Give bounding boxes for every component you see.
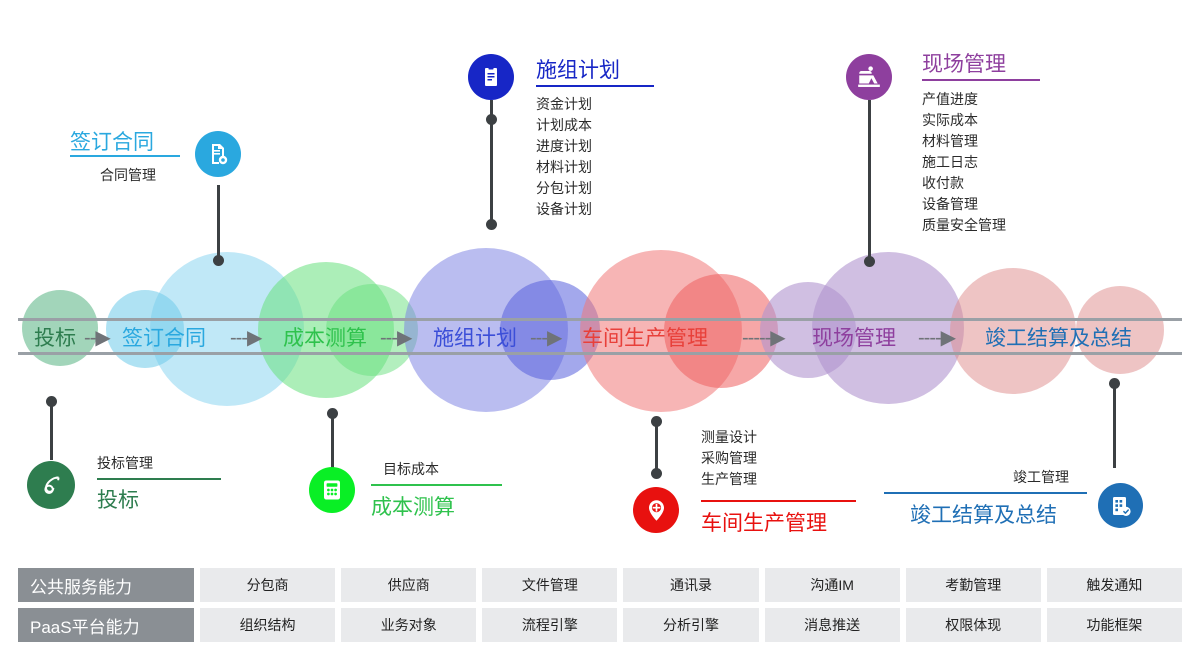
callout-item: 收付款 [922, 173, 1006, 194]
connector-dot-shizu [486, 219, 497, 230]
capability-cells: 组织结构 业务对象 流程引擎 分析引擎 消息推送 权限体现 功能框架 [200, 608, 1182, 642]
callout-item: 质量安全管理 [922, 215, 1006, 236]
callout-item: 材料计划 [536, 157, 592, 178]
clipboard-plan-icon[interactable] [468, 54, 514, 100]
stage-label-chejian-shengchan[interactable]: 车间生产管理 [582, 322, 708, 352]
callout-item: 实际成本 [922, 110, 1006, 131]
capability-cell[interactable]: 分包商 [200, 568, 335, 602]
stage-label-toubiao[interactable]: 投标 [34, 322, 76, 352]
callout-underline-jungong-jiesuan [884, 492, 1087, 494]
stage-label-qianding-hetong[interactable]: 签订合同 [122, 322, 206, 352]
callout-item: 分包计划 [536, 178, 592, 199]
capability-row-public-service: 公共服务能力 分包商 供应商 文件管理 通讯录 沟通IM 考勤管理 触发通知 [18, 568, 1182, 602]
callout-item: 产值进度 [922, 89, 1006, 110]
stage-label-chengben-cesuan[interactable]: 成本测算 [283, 322, 367, 352]
target-arrow-icon[interactable] [27, 461, 75, 509]
capability-cell[interactable]: 触发通知 [1047, 568, 1182, 602]
capability-cell[interactable]: 文件管理 [482, 568, 617, 602]
callout-title-qianding-hetong: 签订合同 [70, 126, 154, 156]
callout-title-chengben-cesuan: 成本测算 [371, 491, 455, 521]
connector-dot-chengben [327, 408, 338, 419]
callout-list-toubiao: 投标管理 [97, 453, 153, 474]
timeline-arrow-2: ---▶ [230, 325, 261, 350]
diagram-canvas: 投标 签订合同 成本测算 施组计划 车间生产管理 现场管理 竣工结算及总结 --… [0, 0, 1200, 666]
timeline-bottom-rule [18, 352, 1182, 355]
callout-item: 采购管理 [701, 448, 757, 469]
callout-list-xianchang-guanli: 产值进度 实际成本 材料管理 施工日志 收付款 设备管理 质量安全管理 [922, 89, 1006, 236]
calculator-icon[interactable] [309, 467, 355, 513]
capability-row-header: 公共服务能力 [18, 568, 194, 602]
connector-line-xianchang [868, 100, 871, 262]
capability-cell[interactable]: 分析引擎 [623, 608, 758, 642]
capability-cells: 分包商 供应商 文件管理 通讯录 沟通IM 考勤管理 触发通知 [200, 568, 1182, 602]
callout-underline-chengben-cesuan [371, 484, 502, 486]
capability-row-paas: PaaS平台能力 组织结构 业务对象 流程引擎 分析引擎 消息推送 权限体现 功… [18, 608, 1182, 642]
connector-line-toubiao [50, 400, 53, 460]
callout-item: 资金计划 [536, 94, 592, 115]
capability-cell[interactable]: 功能框架 [1047, 608, 1182, 642]
stage-label-xianchang-guanli[interactable]: 现场管理 [812, 322, 896, 352]
location-pin-icon[interactable] [633, 487, 679, 533]
callout-item: 设备计划 [536, 199, 592, 220]
callout-item: 材料管理 [922, 131, 1006, 152]
capability-cell[interactable]: 供应商 [341, 568, 476, 602]
callout-title-chejian-shengchan: 车间生产管理 [701, 507, 827, 537]
callout-title-xianchang-guanli: 现场管理 [922, 48, 1006, 78]
connector-dot-shizu-top [486, 114, 497, 125]
connector-dot-jungong [1109, 378, 1120, 389]
callout-underline-xianchang-guanli [922, 79, 1040, 81]
callout-list-jungong-jiesuan: 竣工管理 [1013, 467, 1069, 488]
connector-dot-toubiao [46, 396, 57, 407]
stage-label-jungong-jiesuan[interactable]: 竣工结算及总结 [985, 322, 1132, 352]
connector-line-jungong [1113, 382, 1116, 468]
callout-list-chejian-shengchan: 测量设计 采购管理 生产管理 [701, 427, 757, 490]
timeline-arrow-6: ----▶ [918, 325, 955, 350]
capability-cell[interactable]: 通讯录 [623, 568, 758, 602]
timeline-arrow-5: -----▶ [742, 325, 785, 350]
capability-cell[interactable]: 沟通IM [765, 568, 900, 602]
capability-cell[interactable]: 考勤管理 [906, 568, 1041, 602]
callout-underline-shizu-jihua [536, 85, 654, 87]
capability-cell[interactable]: 流程引擎 [482, 608, 617, 642]
capability-cell[interactable]: 消息推送 [765, 608, 900, 642]
connector-dot-qianding [213, 255, 224, 266]
callout-item: 生产管理 [701, 469, 757, 490]
capability-cell[interactable]: 权限体现 [906, 608, 1041, 642]
connector-line-qianding [217, 185, 220, 260]
callout-title-jungong-jiesuan: 竣工结算及总结 [910, 499, 1057, 529]
timeline-arrow-3: ---▶ [380, 325, 411, 350]
stage-label-shizu-jihua[interactable]: 施组计划 [433, 322, 517, 352]
callout-item: 进度计划 [536, 136, 592, 157]
worker-digging-icon[interactable] [846, 54, 892, 100]
connector-dot-xianchang [864, 256, 875, 267]
timeline-arrow-1: --▶ [84, 325, 110, 350]
connector-line-chengben [331, 412, 334, 470]
capability-cell[interactable]: 业务对象 [341, 608, 476, 642]
contract-document-icon[interactable] [195, 131, 241, 177]
callout-list-qianding-hetong: 合同管理 [100, 165, 156, 186]
callout-item: 施工日志 [922, 152, 1006, 173]
timeline-arrow-4: ---▶ [530, 325, 561, 350]
capability-row-header: PaaS平台能力 [18, 608, 194, 642]
callout-list-chengben-cesuan: 目标成本 [383, 459, 439, 480]
callout-item: 计划成本 [536, 115, 592, 136]
timeline-top-rule [18, 318, 1182, 321]
callout-item: 设备管理 [922, 194, 1006, 215]
building-check-icon[interactable] [1098, 483, 1143, 528]
capability-table: 公共服务能力 分包商 供应商 文件管理 通讯录 沟通IM 考勤管理 触发通知 P… [18, 568, 1182, 648]
callout-underline-qianding-hetong [70, 155, 180, 157]
callout-underline-chejian-shengchan [701, 500, 856, 502]
callout-item: 测量设计 [701, 427, 757, 448]
callout-list-shizu-jihua: 资金计划 计划成本 进度计划 材料计划 分包计划 设备计划 [536, 94, 592, 220]
callout-title-toubiao: 投标 [97, 484, 139, 514]
capability-cell[interactable]: 组织结构 [200, 608, 335, 642]
callout-title-shizu-jihua: 施组计划 [536, 54, 620, 84]
callout-underline-toubiao [97, 478, 221, 480]
connector-dot-chejian-bottom [651, 468, 662, 479]
connector-dot-chejian [651, 416, 662, 427]
